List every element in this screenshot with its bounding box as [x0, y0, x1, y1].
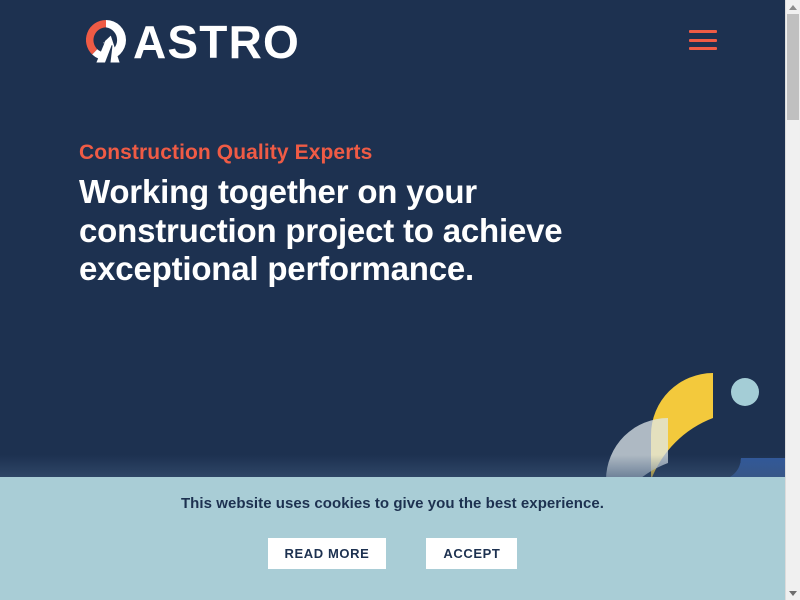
hero-eyebrow: Construction Quality Experts: [79, 141, 372, 165]
hero-title: Working together on your construction pr…: [79, 173, 649, 289]
chevron-down-icon: [789, 591, 797, 596]
page-content: ASTRO Construction Quality Experts Worki…: [0, 0, 785, 600]
menu-bar-3: [689, 47, 717, 50]
site-logo[interactable]: ASTRO: [79, 15, 300, 69]
menu-bar-2: [689, 39, 717, 42]
chevron-up-icon: [789, 5, 797, 10]
logo-wordmark: ASTRO: [133, 19, 300, 65]
scroll-up-arrow-icon[interactable]: [786, 0, 800, 14]
site-header: ASTRO: [0, 0, 785, 85]
browser-viewport: ASTRO Construction Quality Experts Worki…: [0, 0, 800, 600]
accent-dot: [731, 378, 759, 406]
cookie-button-group: READ MORE ACCEPT: [0, 538, 785, 569]
scroll-down-arrow-icon[interactable]: [786, 586, 800, 600]
qastro-q-mark-icon: [79, 15, 135, 69]
hamburger-menu-icon[interactable]: [689, 28, 717, 52]
vertical-scrollbar[interactable]: [785, 0, 800, 600]
menu-bar-1: [689, 30, 717, 33]
accept-cookies-button[interactable]: ACCEPT: [426, 538, 517, 569]
scroll-thumb[interactable]: [787, 14, 799, 120]
cookie-consent-banner: This website uses cookies to give you th…: [0, 477, 785, 600]
read-more-button[interactable]: READ MORE: [268, 538, 387, 569]
cookie-message: This website uses cookies to give you th…: [0, 495, 785, 512]
